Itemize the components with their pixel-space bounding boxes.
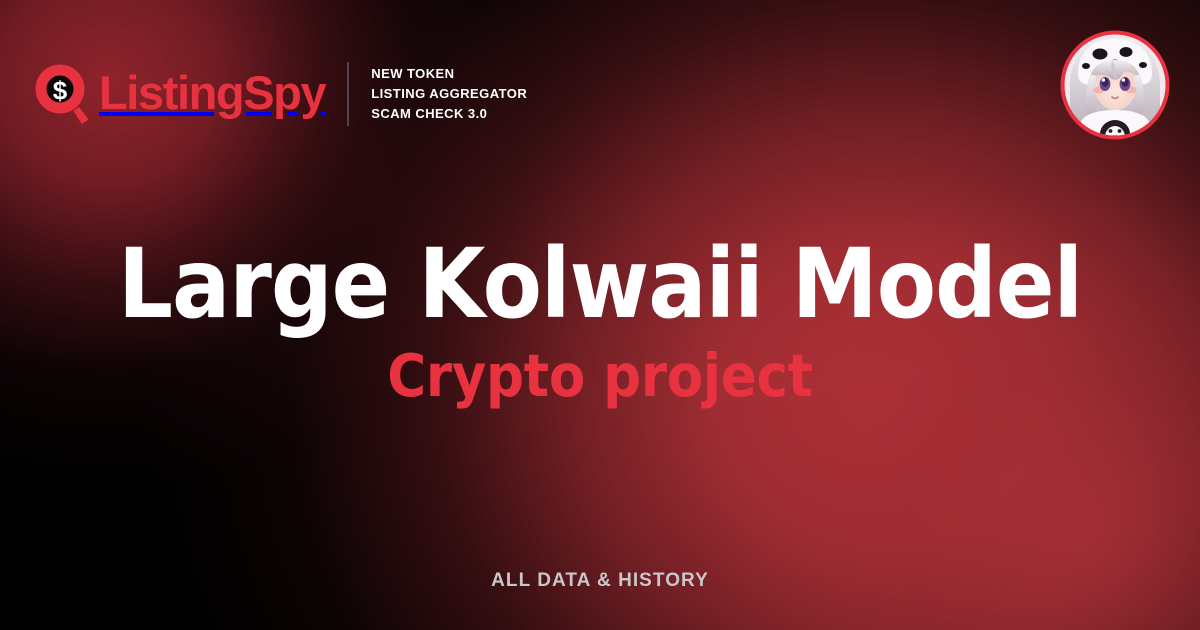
tagline-line-1: NEW TOKEN (371, 64, 527, 84)
brand-name: ListingSpy (99, 69, 325, 120)
page-title: Large Kolwaii Model (0, 236, 1200, 334)
header: $ ListingSpy NEW TOKEN LISTING AGGREGATO… (34, 52, 527, 136)
avatar-illustration-icon (1060, 30, 1170, 140)
social-share-card: $ ListingSpy NEW TOKEN LISTING AGGREGATO… (0, 0, 1200, 630)
avatar[interactable] (1060, 30, 1170, 140)
header-divider (347, 62, 349, 126)
footer-label: ALL DATA & HISTORY (491, 570, 709, 591)
tagline-line-3: SCAM CHECK 3.0 (371, 104, 527, 124)
brand-logo-link[interactable]: $ ListingSpy (34, 63, 325, 125)
svg-text:$: $ (53, 76, 68, 106)
brand-tagline: NEW TOKEN LISTING AGGREGATOR SCAM CHECK … (371, 64, 527, 123)
tagline-line-2: LISTING AGGREGATOR (371, 84, 527, 104)
hero-section: Large Kolwaii Model Crypto project (0, 236, 1200, 407)
magnifier-dollar-icon: $ (34, 63, 92, 125)
page-subtitle: Crypto project (0, 345, 1200, 407)
footer: ALL DATA & HISTORY (0, 570, 1200, 592)
